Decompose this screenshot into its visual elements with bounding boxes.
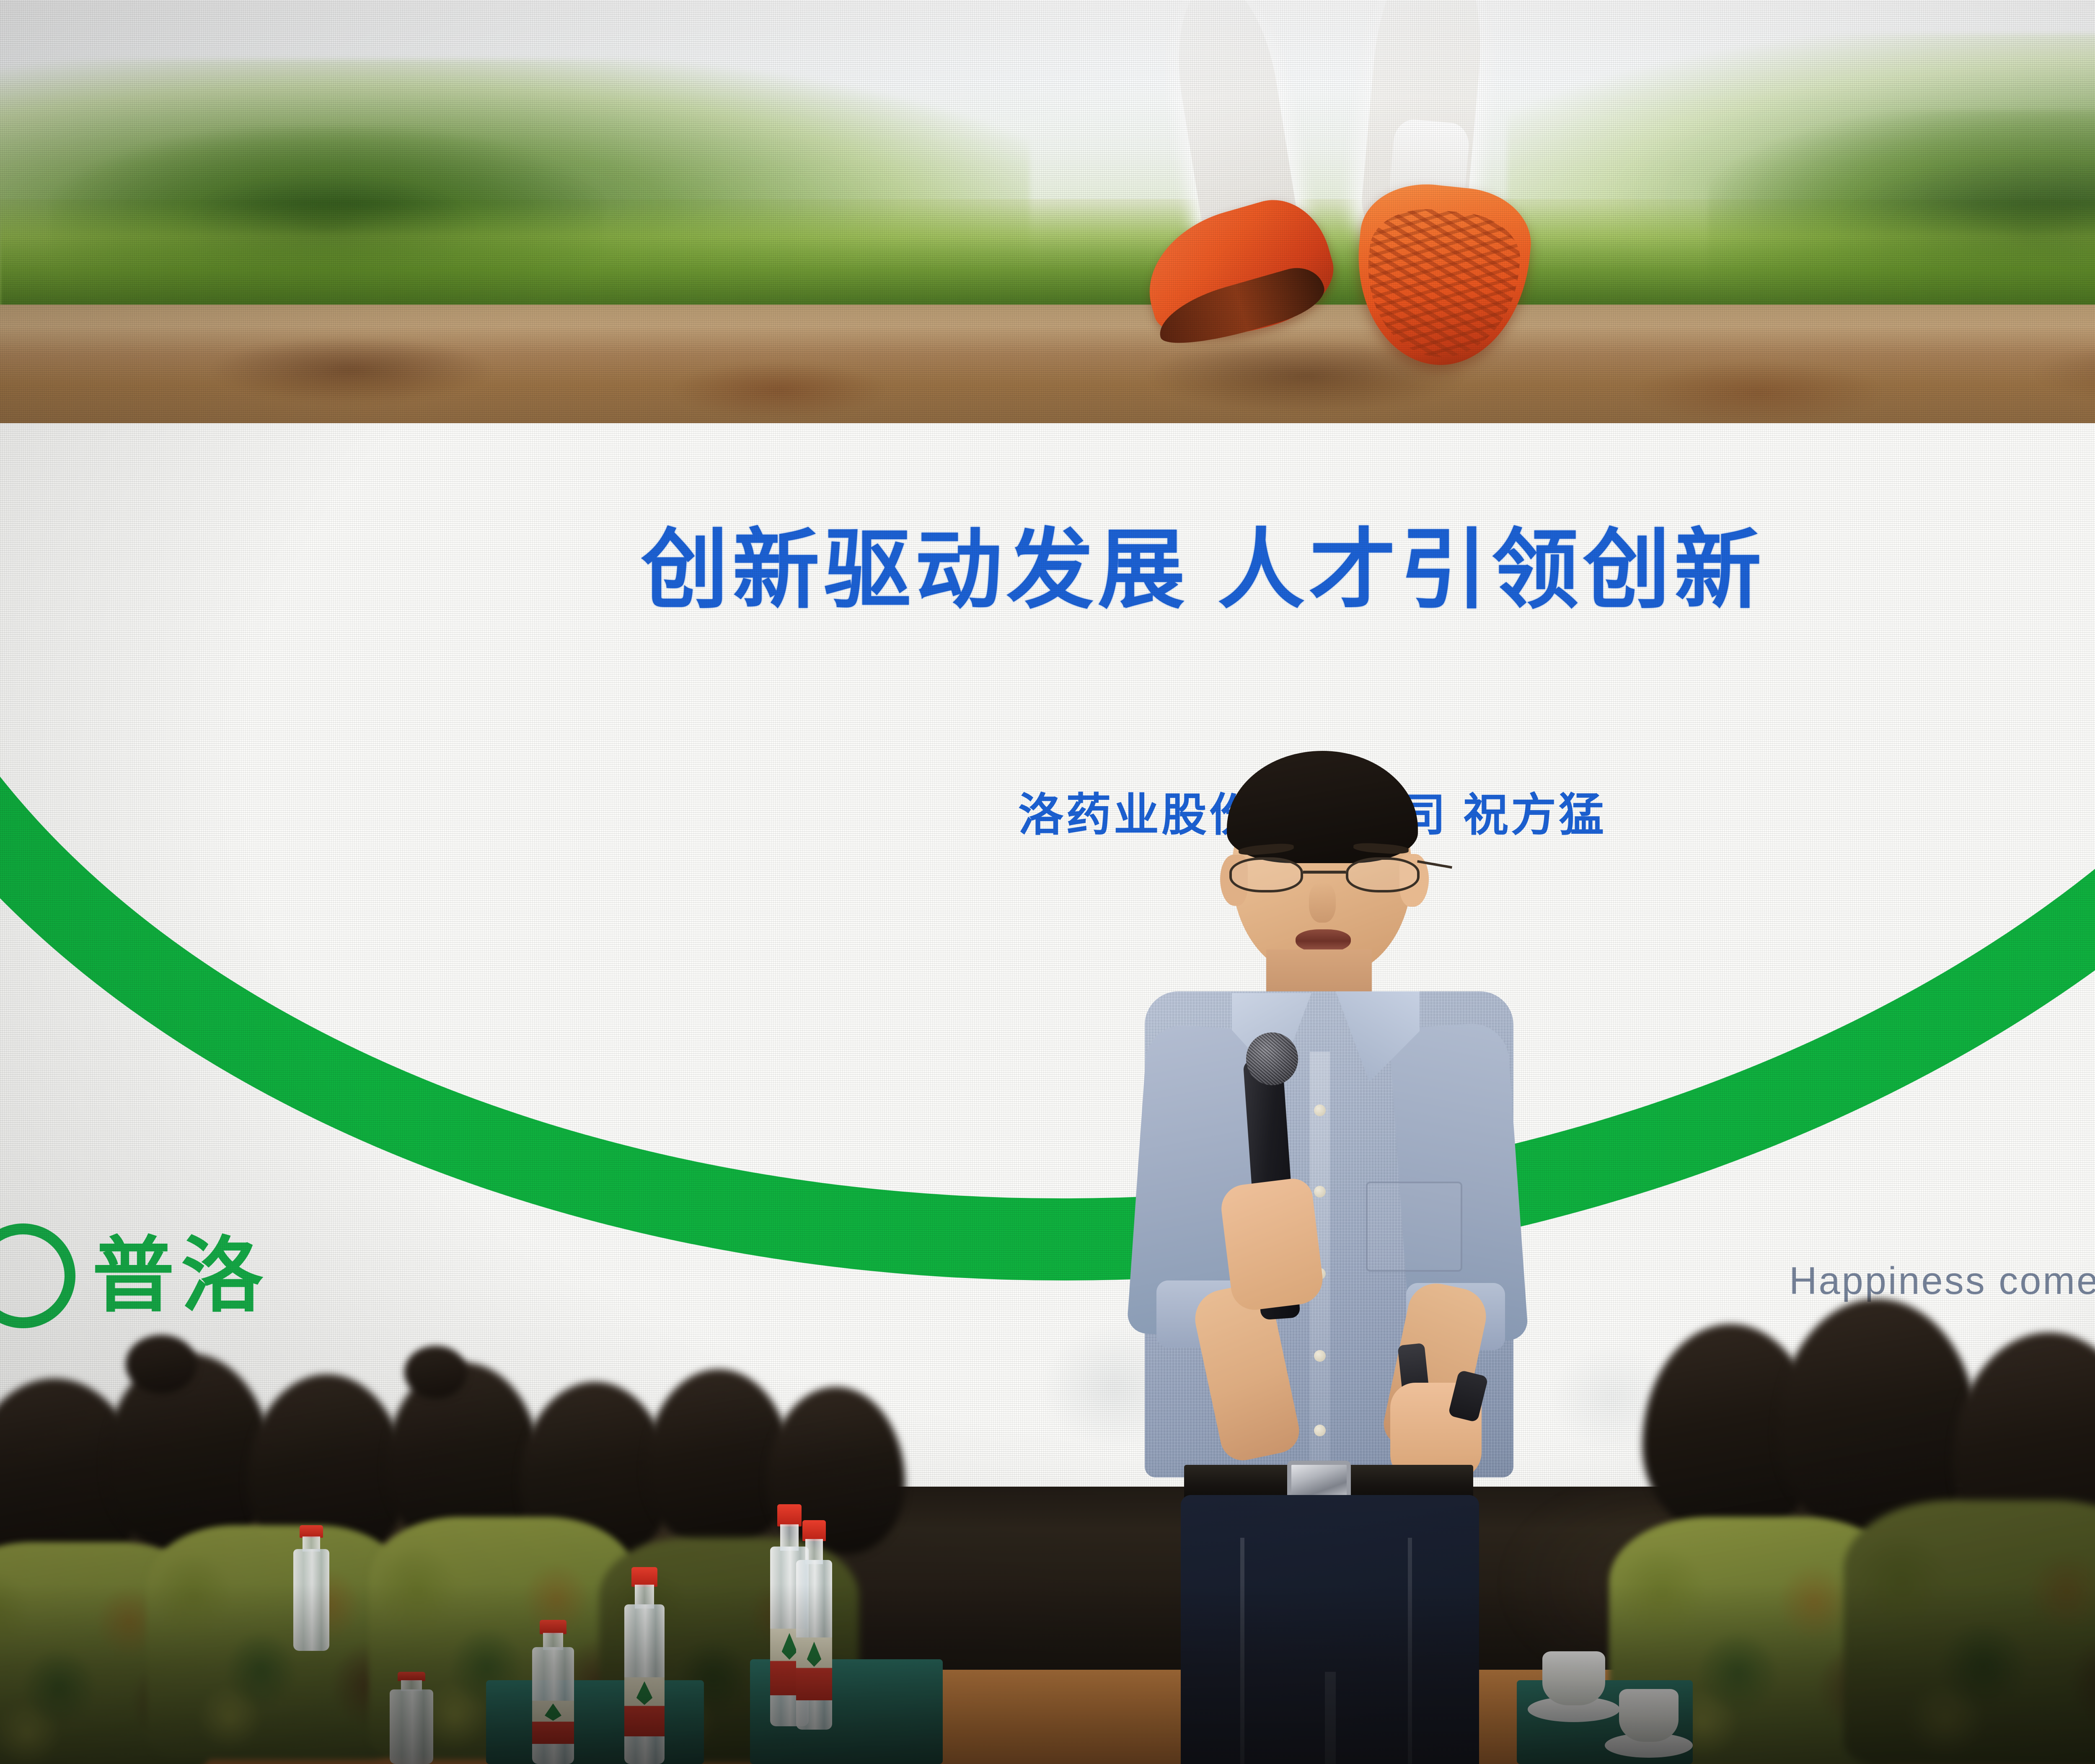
runner-figure	[1156, 0, 1658, 389]
audience-hair-bun	[404, 1346, 467, 1399]
trail-running-photo	[0, 0, 2095, 423]
slide-title: 创新驱动发展 人才引领创新	[641, 522, 2095, 619]
eyeglass-lens-right	[1346, 857, 1420, 892]
eyeglass-temple-arm	[1417, 860, 1452, 869]
shirt-button	[1314, 1104, 1326, 1116]
photo-dirt-texture	[0, 305, 2095, 423]
shirt-button	[1314, 1186, 1326, 1198]
audience-hair-bun	[126, 1335, 197, 1394]
conference-photo: 创新驱动发展 人才引领创新 洛药业股份有限公司 祝方猛 普洛 Happiness…	[0, 0, 2095, 1764]
eyeglass-bridge	[1303, 871, 1346, 874]
foreground-shadow	[0, 1584, 2095, 1764]
bottle-cap	[300, 1525, 323, 1538]
eyeglass-lens-left	[1229, 857, 1303, 892]
speaker-nose	[1309, 882, 1336, 923]
bottle-cap	[802, 1520, 825, 1541]
running-shoe-tread	[1359, 203, 1524, 365]
photo-grass-line	[0, 203, 2095, 313]
audience-head	[1777, 1299, 1978, 1534]
